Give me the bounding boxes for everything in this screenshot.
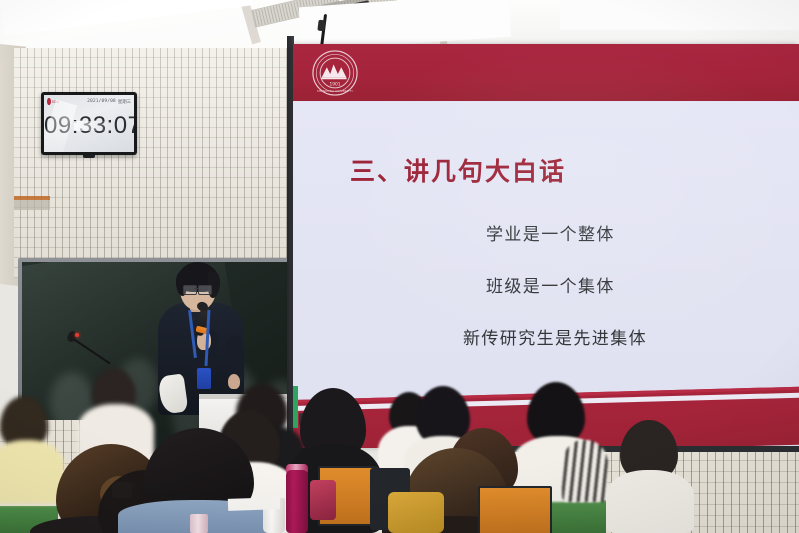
shandong-university-seal-logo: 1901 SHANDONG UNIVERSITY	[311, 49, 359, 97]
wall-trim-shadow	[14, 200, 50, 210]
clock-mount	[83, 155, 95, 158]
back-wall-shading	[14, 48, 296, 278]
speaker-left-hand	[228, 374, 240, 389]
speaker-id-badge	[197, 368, 211, 389]
desk-paper-sheet	[228, 497, 280, 511]
speaker-glasses-bridge	[194, 288, 199, 289]
backpack-yellow	[388, 492, 444, 533]
clock-screen: SDU 2021/09/08 星期三 09:33:07	[44, 95, 134, 152]
microphone-led-indicator-icon	[75, 333, 79, 337]
pink-item-on-desk	[310, 480, 336, 520]
audience-body-far-3	[0, 440, 64, 504]
slide-bullet-3: 新传研究生是先进集体	[463, 324, 647, 349]
ceiling-light-panel-right	[560, 0, 799, 30]
screen-edge-green-strip	[293, 386, 298, 428]
audience-patterned-blouse	[562, 440, 608, 502]
chair-backrest-2	[478, 486, 552, 533]
clock-screen-glare-2	[74, 121, 108, 131]
water-bottle	[286, 470, 308, 533]
clock-weekday: 星期三	[118, 99, 131, 105]
digital-wall-clock[interactable]: SDU 2021/09/08 星期三 09:33:07	[41, 92, 137, 155]
slide-bullet-1: 学业是一个整体	[486, 220, 615, 245]
clock-date: 2021/09/08	[87, 99, 116, 104]
svg-text:1901: 1901	[330, 81, 341, 87]
clock-logo-mark-icon	[47, 98, 51, 105]
small-cup	[190, 514, 208, 533]
speaker-glasses-right-lens	[198, 285, 212, 295]
lecture-hall-photo: SDU 2021/09/08 星期三 09:33:07	[0, 0, 799, 533]
audience-body-mid-4	[606, 470, 694, 533]
ceiling-camera-housing	[317, 20, 325, 32]
slide-header-band	[293, 44, 799, 101]
slide-bullet-2: 班级是一个集体	[486, 272, 615, 297]
slide-title: 三、讲几句大白话	[350, 152, 566, 188]
svg-text:SHANDONG UNIVERSITY: SHANDONG UNIVERSITY	[317, 89, 353, 93]
speaker-glasses-left-lens	[183, 285, 197, 295]
